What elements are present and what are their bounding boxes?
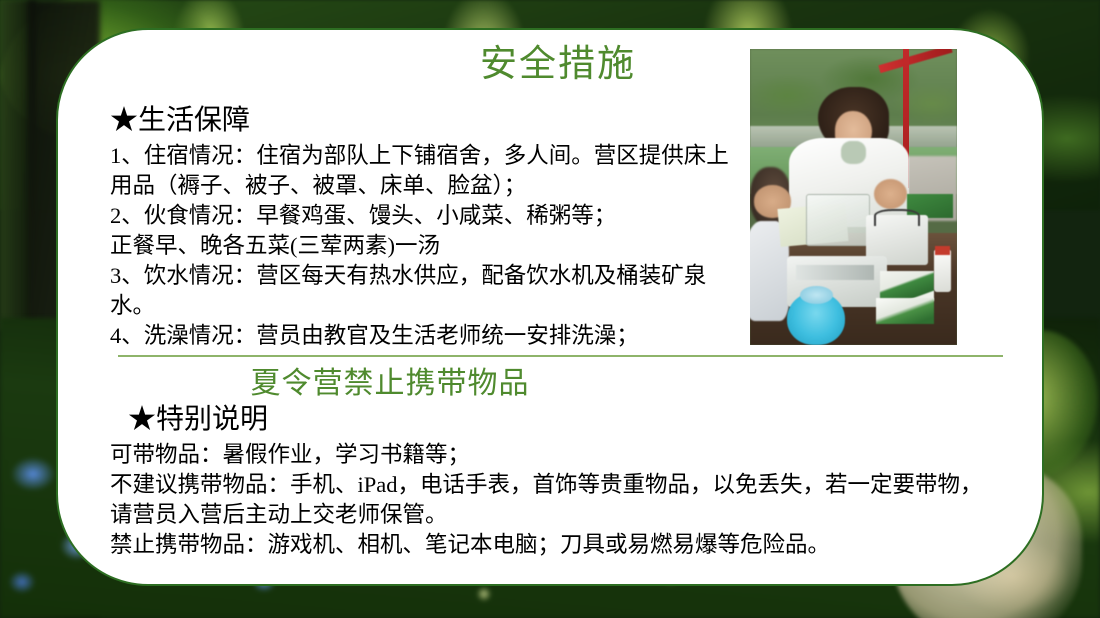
section2-heading: ★特别说明 bbox=[128, 405, 268, 436]
photo-collar bbox=[841, 141, 866, 165]
content-card: 安全措施 bbox=[56, 28, 1044, 586]
photo-right-hand bbox=[874, 179, 907, 209]
photo-content bbox=[750, 49, 957, 345]
photo-bottle-cap bbox=[935, 246, 949, 255]
photo-instrument-slot bbox=[796, 265, 875, 280]
photo-bowl-lid bbox=[800, 286, 833, 304]
page-title: 安全措施 bbox=[398, 46, 718, 85]
photo-case-handle bbox=[874, 209, 919, 226]
section1-heading: ★生活保障 bbox=[110, 106, 250, 137]
photo-medicine-box-1 bbox=[880, 271, 934, 301]
section-divider bbox=[118, 355, 1003, 357]
photo-bottle bbox=[934, 250, 951, 291]
slide-root: 安全措施 bbox=[0, 0, 1100, 618]
section2-body: 可带物品：暑假作业，学习书籍等； 不建议携带物品：手机、iPad，电话手表，首饰… bbox=[110, 440, 990, 560]
photo-medicine-box-2 bbox=[876, 298, 934, 325]
photo-medical-station bbox=[750, 49, 957, 345]
section2-title: 夏令营禁止携带物品 bbox=[180, 367, 600, 400]
section1-body: 1、住宿情况：住宿为部队上下铺宿舍，多人间。营区提供床上用品（褥子、被子、被罩、… bbox=[110, 141, 750, 351]
photo-clear-tray bbox=[806, 194, 870, 246]
